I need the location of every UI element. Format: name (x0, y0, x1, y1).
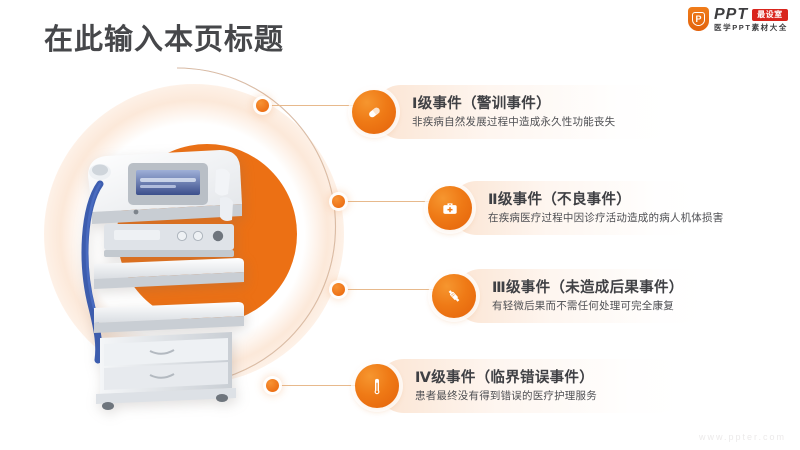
pill-capsule-icon[interactable] (352, 90, 396, 134)
event-item-2[interactable]: Ⅱ级事件（不良事件）在疾病医疗过程中因诊疗活动造成的病人机体损害 (428, 181, 723, 235)
connector-node-2[interactable] (332, 195, 345, 208)
event-item-text: Ⅱ级事件（不良事件）在疾病医疗过程中因诊疗活动造成的病人机体损害 (488, 191, 723, 225)
event-item-description: 在疾病医疗过程中因诊疗活动造成的病人机体损害 (488, 212, 723, 225)
connector-line-4 (279, 385, 367, 386)
event-item-description: 非疾病自然发展过程中造成永久性功能丧失 (412, 116, 615, 129)
syringe-icon[interactable] (432, 274, 476, 318)
connector-node-1[interactable] (256, 99, 269, 112)
connector-line-3 (345, 289, 439, 290)
thermometer-icon[interactable] (355, 364, 399, 408)
shield-letter: P (692, 12, 705, 26)
medical-bag-icon[interactable] (428, 186, 472, 230)
shield-icon: P (688, 7, 709, 31)
event-item-text: Ⅳ级事件（临界错误事件）患者最终没有得到错误的医疗护理服务 (415, 369, 597, 403)
connector-line-2 (345, 201, 435, 202)
logo-tagline: 医学PPT素材大全 (714, 24, 788, 32)
event-item-title: Ⅱ级事件（不良事件） (488, 191, 723, 209)
brand-logo: P PPT 最设室 医学PPT素材大全 (688, 7, 788, 32)
event-item-3[interactable]: Ⅲ级事件（未造成后果事件）有轻微后果而不需任何处理可完全康复 (432, 269, 684, 323)
watermark: www.ppter.com (699, 432, 786, 442)
connector-node-4[interactable] (266, 379, 279, 392)
connector-node-3[interactable] (332, 283, 345, 296)
page-title: 在此输入本页标题 (44, 16, 284, 58)
connector-line-1 (269, 105, 359, 106)
event-item-4[interactable]: Ⅳ级事件（临界错误事件）患者最终没有得到错误的医疗护理服务 (355, 359, 597, 413)
event-item-text: Ⅰ级事件（警训事件）非疾病自然发展过程中造成永久性功能丧失 (412, 95, 615, 129)
event-item-title: Ⅰ级事件（警训事件） (412, 95, 615, 113)
event-item-title: Ⅲ级事件（未造成后果事件） (492, 279, 684, 297)
logo-brand: PPT (714, 7, 748, 23)
event-item-1[interactable]: Ⅰ级事件（警训事件）非疾病自然发展过程中造成永久性功能丧失 (352, 85, 615, 139)
slide-root: 在此输入本页标题 P PPT 最设室 医学PPT素材大全 (0, 0, 800, 450)
event-item-text: Ⅲ级事件（未造成后果事件）有轻微后果而不需任何处理可完全康复 (492, 279, 684, 313)
medical-trolley-device-illustration (70, 132, 270, 412)
logo-top-row: PPT 最设室 (714, 7, 788, 23)
logo-badge: 最设室 (752, 9, 788, 21)
event-item-title: Ⅳ级事件（临界错误事件） (415, 369, 597, 387)
event-item-description: 有轻微后果而不需任何处理可完全康复 (492, 300, 684, 313)
logo-text-block: PPT 最设室 医学PPT素材大全 (714, 7, 788, 32)
event-item-description: 患者最终没有得到错误的医疗护理服务 (415, 390, 597, 403)
visual-area (22, 58, 372, 430)
